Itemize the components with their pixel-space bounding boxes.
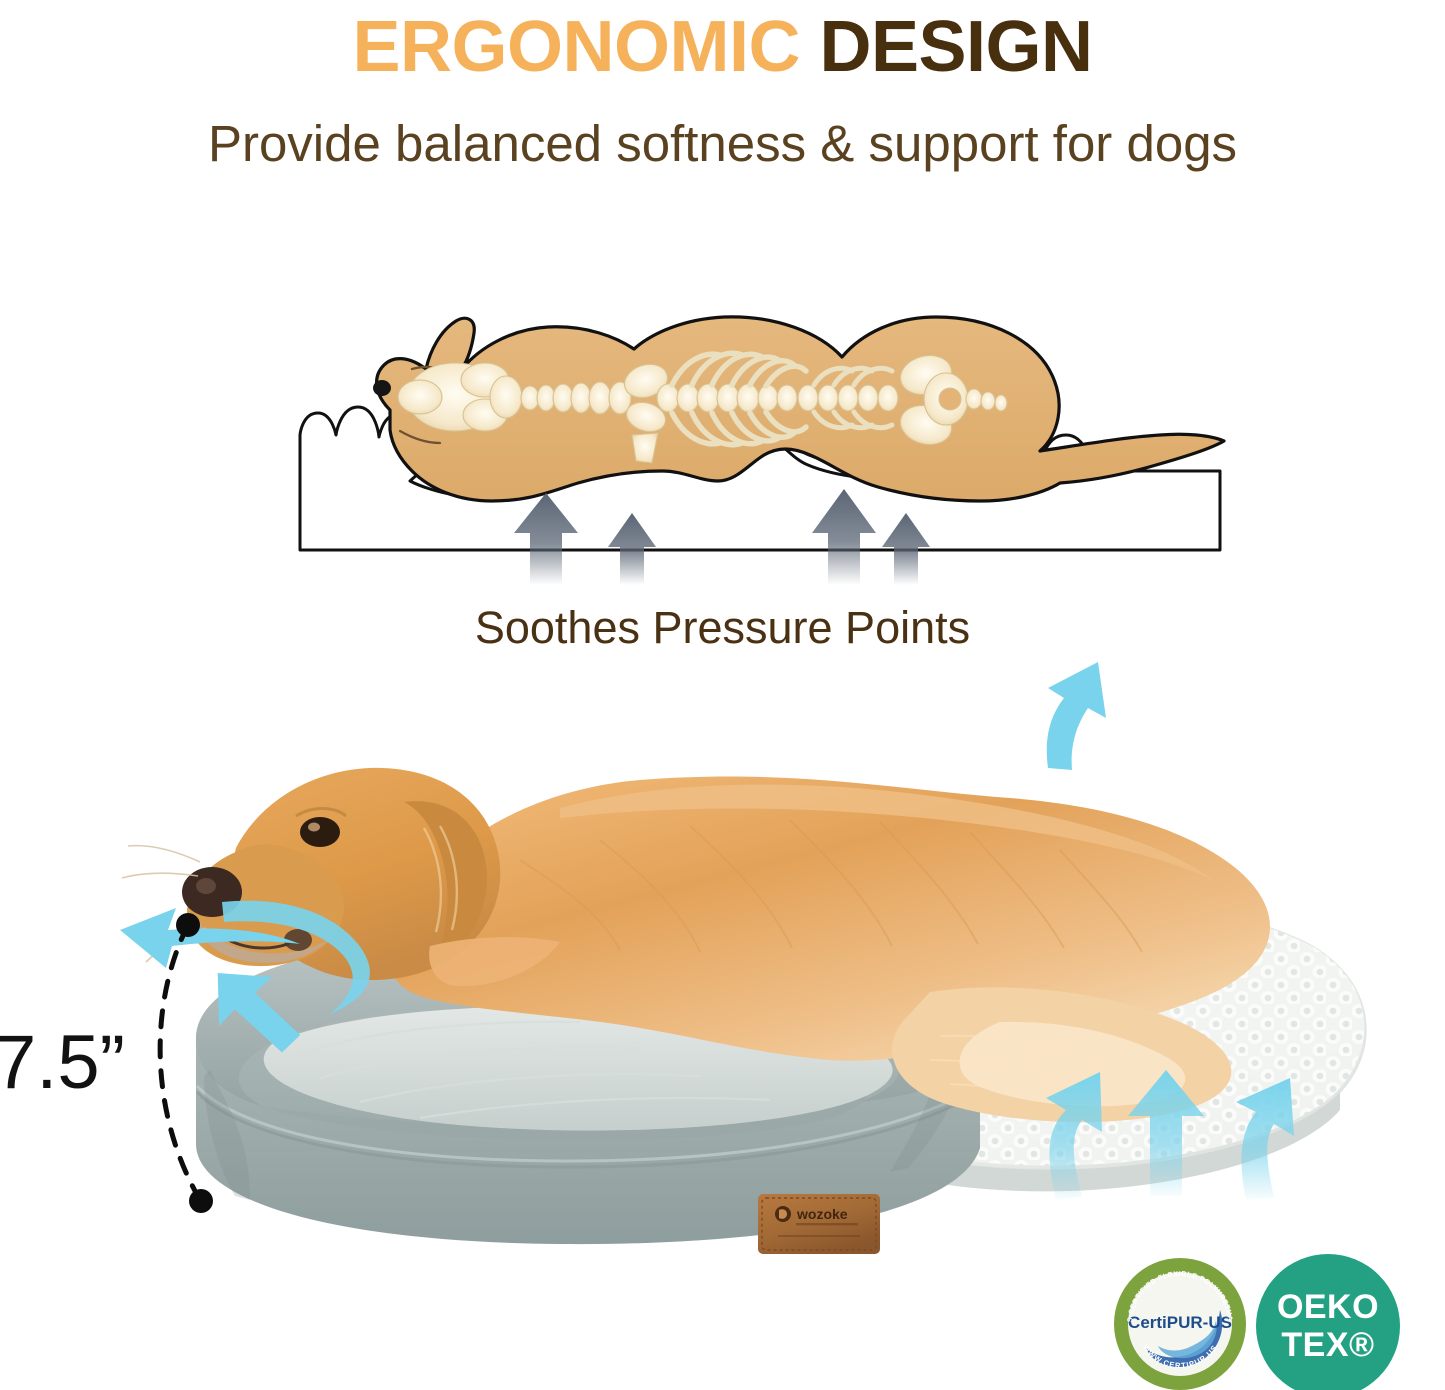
title-ergonomic: ERGONOMIC	[352, 7, 800, 87]
wozoke-wordmark: wozoke	[796, 1206, 848, 1222]
pressure-point-diagram	[280, 285, 1240, 585]
measure-dot-bottom	[189, 1189, 213, 1213]
oeko-line-1: OEKO	[1277, 1288, 1379, 1326]
product-infographic: ERGONOMIC DESIGN Provide balanced softne…	[0, 0, 1445, 1390]
breathe-arrow-top	[1047, 662, 1106, 770]
measure-dot-top	[176, 913, 200, 937]
title-design: DESIGN	[819, 7, 1092, 87]
wozoke-logo-mark	[775, 1206, 791, 1222]
bed-height-measurement: 7.5”	[0, 1020, 169, 1106]
certipur-us-badge: CertiPUR-US CONTAINS CERTIFIED FLEXIBLE …	[1112, 1256, 1248, 1390]
title-space	[800, 7, 820, 87]
page-title: ERGONOMIC DESIGN	[0, 4, 1445, 90]
page-subtitle: Provide balanced softness & support for …	[0, 112, 1445, 176]
certipur-wordmark: CertiPUR-US	[1128, 1313, 1232, 1332]
oeko-tex-badge: OEKO TEX®	[1256, 1254, 1400, 1390]
dog-nose	[373, 380, 391, 396]
oeko-line-2: TEX®	[1281, 1326, 1374, 1364]
brand-label: wozoke	[756, 1192, 882, 1256]
dog-eye	[300, 817, 340, 847]
